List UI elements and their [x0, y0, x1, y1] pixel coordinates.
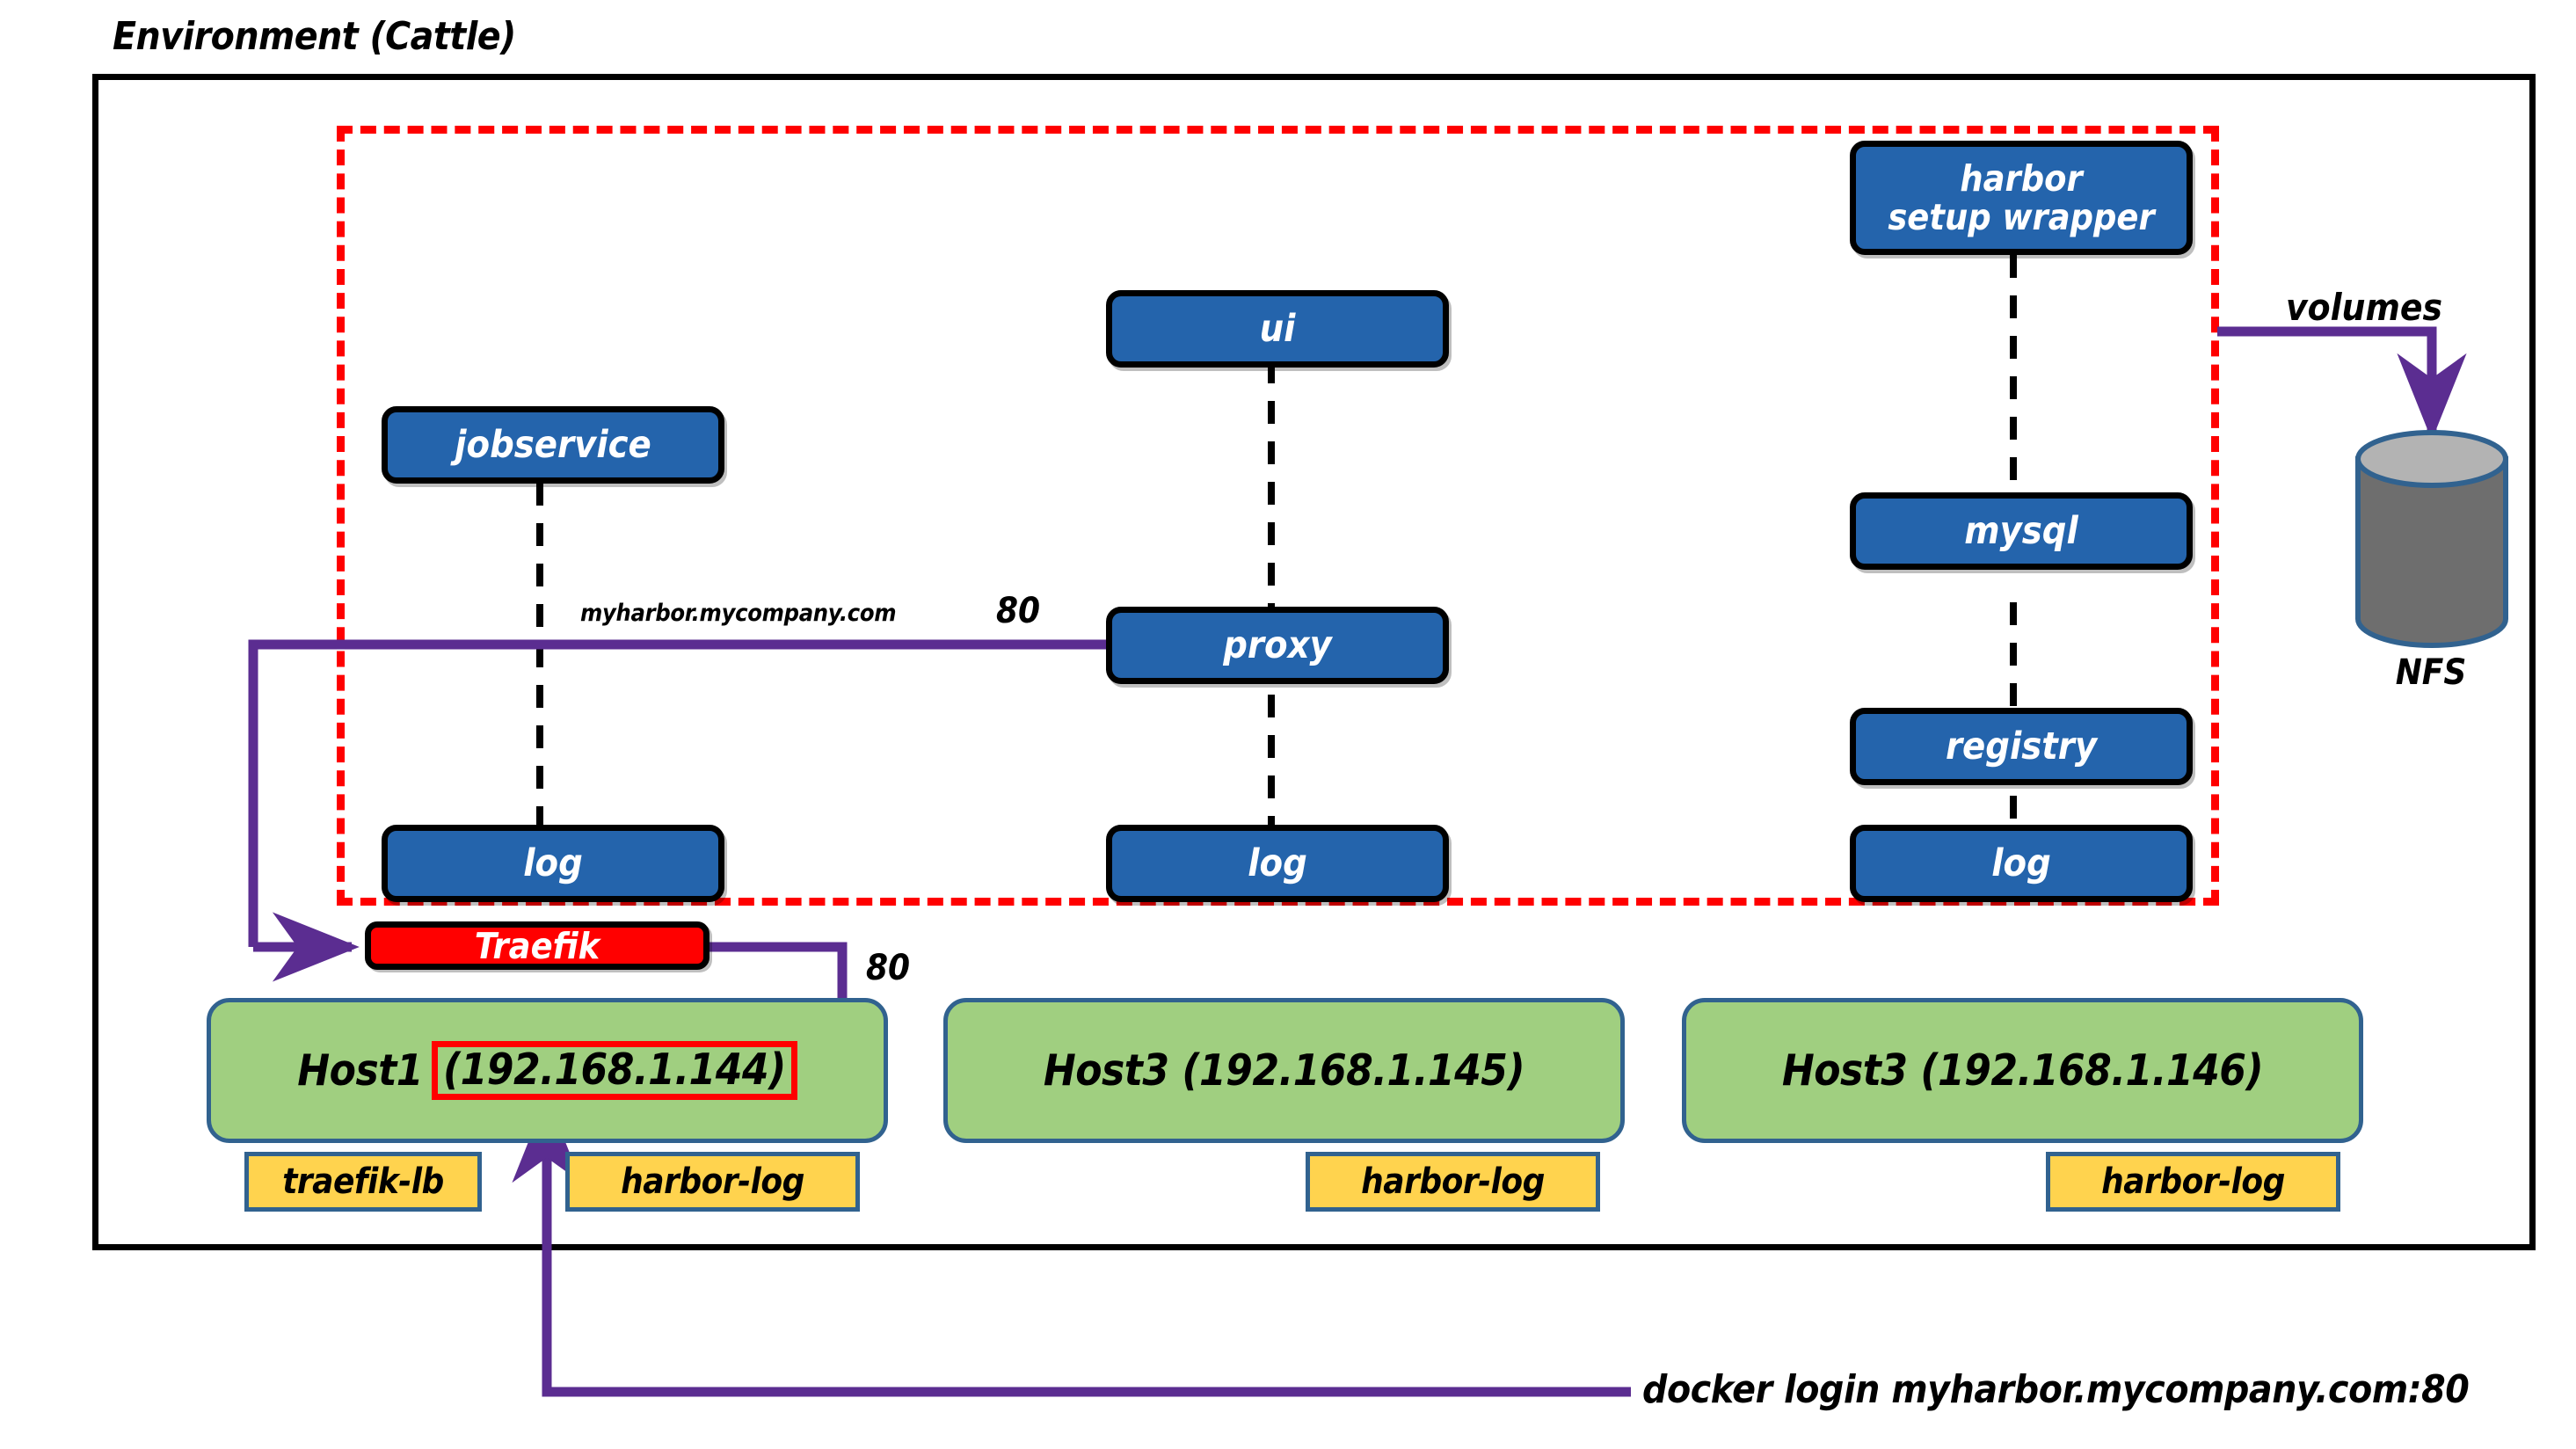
host-box-2[interactable]: Host3 (192.168.1.145) — [943, 998, 1625, 1143]
stack-label-harbor-log-3-text: harbor-log — [2101, 1161, 2285, 1202]
service-box-harbor-setup-wrapper[interactable]: harbor setup wrapper — [1850, 141, 2193, 255]
host-box-1[interactable]: Host1 (192.168.1.144) — [207, 998, 888, 1143]
host-box-3[interactable]: Host3 (192.168.1.146) — [1682, 998, 2363, 1143]
host-3-name: Host3 (192.168.1.146) — [1782, 1045, 2263, 1096]
port-annotation-proxy: 80 — [996, 591, 1040, 631]
stack-label-harbor-log-1[interactable]: harbor-log — [565, 1152, 860, 1212]
hostname-annotation: myharbor.mycompany.com — [580, 600, 896, 627]
host-2-name: Host3 (192.168.1.145) — [1044, 1045, 1524, 1096]
service-box-proxy[interactable]: proxy — [1106, 607, 1449, 684]
service-label-registry: registry — [1946, 726, 2097, 767]
traefik-label: Traefik — [475, 925, 600, 967]
stack-label-harbor-log-2[interactable]: harbor-log — [1306, 1152, 1600, 1212]
service-label-harbor-setup-wrapper-line2: setup wrapper — [1888, 198, 2154, 237]
service-box-mysql[interactable]: mysql — [1850, 492, 2193, 570]
stack-label-harbor-log-1-text: harbor-log — [621, 1161, 804, 1202]
service-label-proxy: proxy — [1223, 625, 1332, 666]
service-label-jobservice-log: log — [523, 843, 583, 884]
stack-label-traefik-lb-text: traefik-lb — [282, 1161, 444, 1202]
service-label-mysql: mysql — [1964, 511, 2078, 551]
service-label-registry-log: log — [1991, 843, 2051, 884]
stack-label-harbor-log-3[interactable]: harbor-log — [2046, 1152, 2340, 1212]
nfs-cylinder-icon — [2353, 429, 2511, 649]
service-label-ui: ui — [1260, 309, 1296, 349]
service-label-jobservice: jobservice — [455, 425, 651, 465]
service-box-jobservice-log[interactable]: log — [382, 825, 724, 902]
stack-label-harbor-log-2-text: harbor-log — [1361, 1161, 1545, 1202]
service-label-harbor-setup-wrapper-line1: harbor — [1960, 159, 2082, 198]
host-1-name: Host1 — [297, 1045, 423, 1096]
environment-title: Environment (Cattle) — [113, 14, 516, 59]
diagram-canvas: Environment (Cattle) — [0, 0, 2576, 1449]
service-box-registry-log[interactable]: log — [1850, 825, 2193, 902]
nfs-label: NFS — [2339, 652, 2523, 693]
service-box-registry[interactable]: registry — [1850, 708, 2193, 785]
service-label-proxy-log: log — [1248, 843, 1307, 884]
host-1-ip: (192.168.1.144) — [432, 1041, 797, 1100]
port-annotation-traefik: 80 — [866, 948, 910, 988]
service-box-proxy-log[interactable]: log — [1106, 825, 1449, 902]
traefik-box[interactable]: Traefik — [365, 921, 709, 970]
service-box-jobservice[interactable]: jobservice — [382, 406, 724, 484]
docker-login-annotation: docker login myharbor.mycompany.com:80 — [1642, 1367, 2469, 1412]
service-box-ui[interactable]: ui — [1106, 290, 1449, 368]
stack-label-traefik-lb[interactable]: traefik-lb — [244, 1152, 482, 1212]
volumes-label: volumes — [2286, 286, 2442, 329]
